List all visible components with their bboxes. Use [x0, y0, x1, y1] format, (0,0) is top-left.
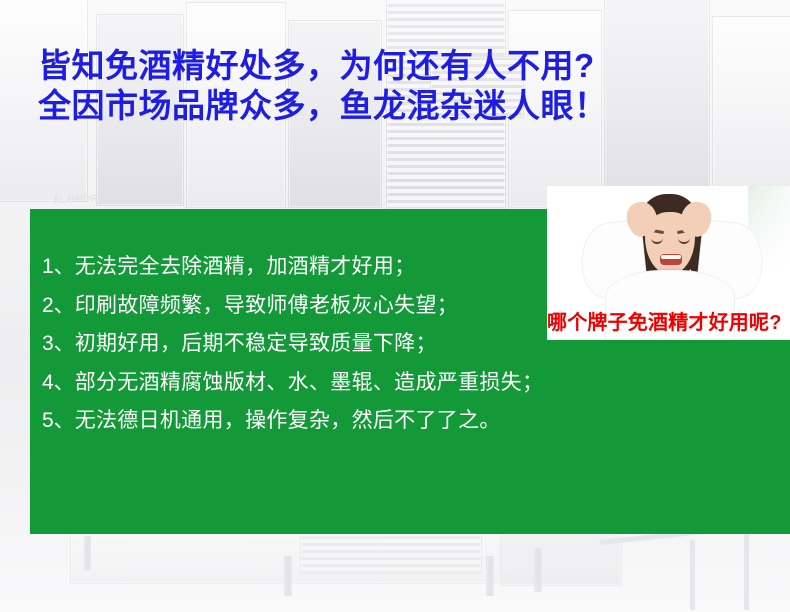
list-item-number: 4、 [42, 371, 75, 394]
headline: 皆知免酒精好处多，为何还有人不用? 全因市场品牌众多，鱼龙混杂迷人眼！ [38, 46, 758, 126]
list-item-text: 部分无酒精腐蚀版材、水、墨辊、造成严重损失； [75, 371, 544, 394]
list-item-number: 1、 [42, 255, 75, 278]
list-item-text: 无法完全去除酒精，加酒精才好用； [75, 255, 416, 278]
list-item: 5、无法德日机通用，操作复杂，然后不了了之。 [42, 402, 742, 441]
list-item: 4、部分无酒精腐蚀版材、水、墨辊、造成严重损失； [42, 364, 742, 403]
headline-line-1: 皆知免酒精好处多，为何还有人不用? [38, 46, 758, 86]
promo-banner: FLAIMOR FLAIMOR 皆知免酒精好处多，为何还有人不用? 全因市场品牌… [0, 0, 790, 612]
list-item-number: 2、 [42, 294, 75, 317]
list-item-number: 5、 [42, 409, 75, 432]
list-item-text: 印刷故障频繁，导致师傅老板灰心失望； [75, 294, 458, 317]
list-item-number: 3、 [42, 332, 75, 355]
list-item-text: 初期好用，后期不稳定导致质量下降； [75, 332, 437, 355]
headline-line-2: 全因市场品牌众多，鱼龙混杂迷人眼！ [38, 86, 758, 126]
inset-caption: 哪个牌子免酒精才好用呢? [547, 310, 790, 336]
list-item-text: 无法德日机通用，操作复杂，然后不了了之。 [75, 409, 501, 432]
